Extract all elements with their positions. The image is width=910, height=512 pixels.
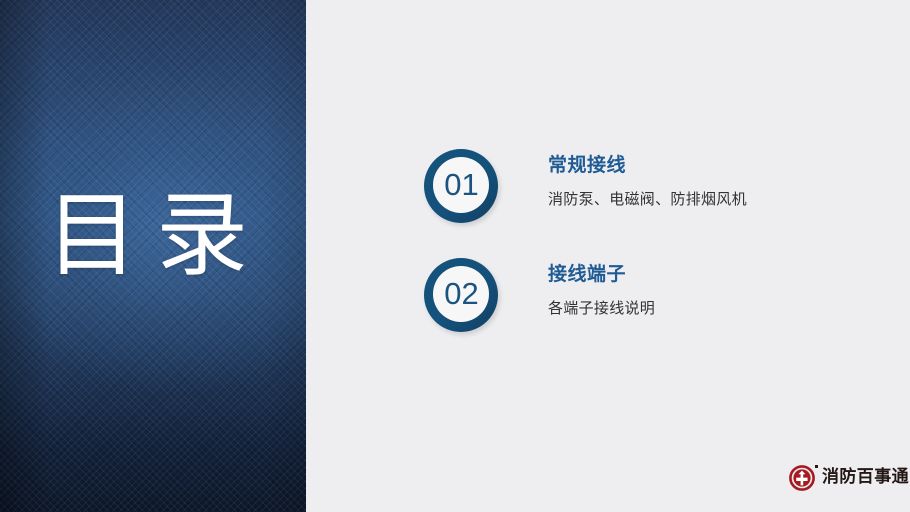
list-item-title: 常规接线	[548, 154, 747, 178]
brand-name: 消防百事通	[822, 469, 909, 487]
list-item-text: 接线端子 各端子接线说明	[548, 263, 655, 318]
badge-number: 02	[424, 258, 498, 332]
registered-mark-dot	[815, 465, 818, 468]
presentation-slide: 目录 01 常规接线 消防泵、电磁阀、防排烟风机 02 接线端子 各端子接线说明	[0, 0, 910, 512]
list-item-text: 常规接线 消防泵、电磁阀、防排烟风机	[548, 154, 747, 209]
number-badge-02: 02	[424, 258, 498, 332]
list-item[interactable]: 02 接线端子 各端子接线说明	[424, 258, 884, 332]
list-item-title: 接线端子	[548, 263, 655, 287]
list-item-subtitle: 消防泵、电磁阀、防排烟风机	[548, 190, 747, 210]
list-item-subtitle: 各端子接线说明	[548, 299, 655, 319]
title-panel: 目录	[0, 0, 306, 512]
list-item[interactable]: 01 常规接线 消防泵、电磁阀、防排烟风机	[424, 149, 884, 223]
page-title: 目录	[46, 186, 266, 285]
number-badge-01: 01	[424, 149, 498, 223]
brand-logo: 消防百事通	[789, 465, 909, 491]
badge-number: 01	[424, 149, 498, 223]
table-of-contents: 01 常规接线 消防泵、电磁阀、防排烟风机 02 接线端子 各端子接线说明	[424, 149, 884, 367]
fire-safety-circle-icon	[789, 465, 815, 491]
